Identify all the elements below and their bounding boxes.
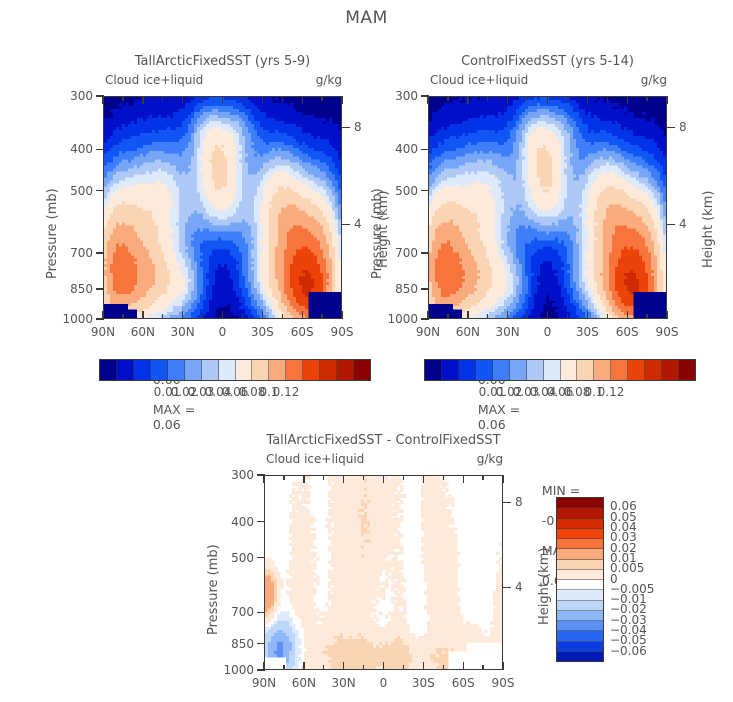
- panel-title-difference: TallArcticFixedSST - ControlFixedSST: [264, 433, 503, 448]
- colorbar-labels-1: 0.010.020.030.040.060.080.10.12: [424, 385, 696, 401]
- ytick-1: [257, 521, 265, 522]
- xtick-label-1: 60N: [131, 325, 155, 339]
- rtick-label-0: 8: [515, 495, 523, 509]
- xtick-2-0: [343, 475, 344, 483]
- colorbar-swatch-3: [151, 360, 168, 380]
- ytick-label-3: 700: [55, 246, 93, 260]
- colorbar-diff-swatch-7: [557, 570, 603, 580]
- figure-canvas: MAM TallArcticFixedSST (yrs 5-9) Cloud i…: [0, 0, 733, 702]
- xtick-minor: [122, 314, 123, 319]
- panel-control: ControlFixedSST (yrs 5-14) Cloud ice+liq…: [428, 96, 667, 319]
- plot-area-difference: [264, 475, 503, 670]
- contour-plot-control: [429, 97, 666, 318]
- xtick-5-1: [463, 662, 464, 670]
- colorbar-swatches-diff: [556, 497, 604, 662]
- xtick-4-1: [423, 662, 424, 670]
- xtick-2-1: [343, 662, 344, 670]
- xtick-1-1: [142, 311, 143, 319]
- xtick-minor: [527, 314, 528, 319]
- ytick-3: [96, 252, 104, 253]
- xtick-0-1: [102, 311, 103, 319]
- xtick-0-1: [263, 662, 264, 670]
- ytick-label-2: 500: [216, 551, 254, 565]
- ytick-2: [96, 190, 104, 191]
- xtick-label-3: 0: [219, 325, 227, 339]
- colorbar-diff-swatch-15: [557, 652, 603, 661]
- plot-area-tallarctic: [103, 96, 342, 319]
- xtick-minor: [282, 96, 283, 101]
- xtick-2-0: [182, 96, 183, 104]
- colorbar-diff-swatch-1: [557, 508, 603, 518]
- ytick-label-5: 1000: [380, 312, 418, 326]
- ytick-4: [421, 288, 429, 289]
- colorbar-swatch-7: [544, 360, 561, 380]
- colorbar-swatches-0: [99, 359, 371, 381]
- xtick-5-1: [627, 311, 628, 319]
- colorbar-diff-swatch-11: [557, 611, 603, 621]
- ytick-label-1: 400: [55, 142, 93, 156]
- xtick-minor: [363, 475, 364, 480]
- xtick-minor: [283, 665, 284, 670]
- colorbar-swatch-15: [679, 360, 695, 380]
- xtick-minor: [162, 96, 163, 101]
- ytick-label-3: 700: [216, 605, 254, 619]
- contour-plot-difference: [265, 476, 502, 669]
- rtick-1: [503, 587, 511, 588]
- colorbar-swatches-1: [424, 359, 696, 381]
- ytick-1: [421, 149, 429, 150]
- xtick-4-0: [423, 475, 424, 483]
- xtick-1-0: [142, 96, 143, 104]
- xtick-3-1: [547, 311, 548, 319]
- xtick-1-0: [467, 96, 468, 104]
- panel-title-tallarctic: TallArcticFixedSST (yrs 5-9): [103, 54, 342, 69]
- colorbar-swatch-4: [493, 360, 510, 380]
- xtick-minor: [202, 314, 203, 319]
- colorbar-vertical-difference: 0.060.050.040.030.020.010.0050−0.005−0.0…: [556, 497, 604, 662]
- rtick-0: [342, 127, 350, 128]
- colorbar-diff-swatch-0: [557, 498, 603, 508]
- xtick-3-0: [222, 96, 223, 104]
- colorbar-diff-swatch-10: [557, 601, 603, 611]
- xtick-minor: [567, 314, 568, 319]
- xtick-label-2: 30N: [496, 325, 520, 339]
- ytick-3: [421, 252, 429, 253]
- xtick-4-0: [262, 96, 263, 104]
- rtick-label-1: 4: [679, 217, 687, 231]
- max-value-0: 0.06: [153, 417, 181, 432]
- ytick-label-0: 300: [380, 89, 418, 103]
- ytick-label-4: 850: [55, 282, 93, 296]
- xtick-label-1: 60N: [292, 676, 316, 690]
- ytick-label-5: 1000: [55, 312, 93, 326]
- max-label-0: MAX =: [153, 402, 195, 417]
- xtick-label-0: 90N: [91, 325, 115, 339]
- xtick-6-1: [666, 311, 667, 319]
- xtick-1-1: [303, 662, 304, 670]
- ytick-4: [96, 288, 104, 289]
- xtick-minor: [443, 475, 444, 480]
- xtick-label-6: 90S: [331, 325, 354, 339]
- yaxis-title-1: Pressure (mb): [370, 188, 385, 279]
- ytick-label-2: 500: [380, 184, 418, 198]
- colorbar-swatch-13: [320, 360, 337, 380]
- xtick-minor: [321, 96, 322, 101]
- xtick-label-3: 0: [544, 325, 552, 339]
- xtick-0-1: [427, 311, 428, 319]
- figure-suptitle: MAM: [0, 8, 733, 28]
- colorbar-diff-swatch-3: [557, 529, 603, 539]
- xtick-4-0: [587, 96, 588, 104]
- xtick-label-6: 90S: [492, 676, 515, 690]
- panel-difference: TallArcticFixedSST - ControlFixedSST Clo…: [264, 475, 503, 670]
- xtick-label-5: 60S: [452, 676, 475, 690]
- colorbar-swatch-14: [662, 360, 679, 380]
- colorbar-diff-swatch-2: [557, 519, 603, 529]
- xtick-5-0: [463, 475, 464, 483]
- panel-field-label-0: Cloud ice+liquid: [105, 73, 203, 87]
- colorbar-swatch-5: [185, 360, 202, 380]
- colorbar-diff-swatch-6: [557, 560, 603, 570]
- rtick-1: [667, 224, 675, 225]
- ytick-label-5: 1000: [216, 663, 254, 677]
- xtick-label-4: 30S: [576, 325, 599, 339]
- rtick-label-0: 8: [354, 120, 362, 134]
- xtick-3-0: [547, 96, 548, 104]
- max-value-1: 0.06: [478, 417, 506, 432]
- colorbar-diff-swatch-13: [557, 631, 603, 641]
- xtick-minor: [443, 665, 444, 670]
- xtick-0-0: [102, 96, 103, 104]
- xtick-minor: [607, 96, 608, 101]
- xtick-3-1: [383, 662, 384, 670]
- colorbar-diff-swatch-4: [557, 539, 603, 549]
- min-label-2: MIN =: [542, 483, 580, 498]
- colorbar-tick-label-7: 0.12: [598, 385, 625, 399]
- xtick-minor: [482, 475, 483, 480]
- colorbar-diff-swatch-9: [557, 590, 603, 600]
- xtick-minor: [567, 96, 568, 101]
- colorbar-swatch-12: [303, 360, 320, 380]
- xtick-minor: [447, 96, 448, 101]
- colorbar-swatch-10: [594, 360, 611, 380]
- xtick-label-0: 90N: [416, 325, 440, 339]
- xtick-label-1: 60N: [456, 325, 480, 339]
- xtick-label-3: 0: [380, 676, 388, 690]
- xtick-minor: [202, 96, 203, 101]
- max-label-1: MAX =: [478, 402, 520, 417]
- yaxis-title-0: Pressure (mb): [45, 188, 60, 279]
- xtick-label-0: 90N: [252, 676, 276, 690]
- xtick-minor: [403, 475, 404, 480]
- rtick-label-1: 4: [515, 580, 523, 594]
- panel-units-label-1: g/kg: [641, 73, 667, 87]
- ytick-label-1: 400: [380, 142, 418, 156]
- xtick-minor: [283, 475, 284, 480]
- xtick-label-4: 30S: [412, 676, 435, 690]
- xtick-6-0: [341, 96, 342, 104]
- colorbar-swatch-1: [117, 360, 134, 380]
- colorbar-diff-swatch-8: [557, 580, 603, 590]
- colorbar-swatch-8: [236, 360, 253, 380]
- colorbar-diff-swatch-12: [557, 621, 603, 631]
- ytick-4: [257, 643, 265, 644]
- xtick-1-1: [467, 311, 468, 319]
- colorbar-diff-swatch-14: [557, 642, 603, 652]
- ytick-label-2: 500: [55, 184, 93, 198]
- colorbar-diff-swatch-5: [557, 549, 603, 559]
- ytick-label-3: 700: [380, 246, 418, 260]
- colorbar-swatch-13: [645, 360, 662, 380]
- xtick-minor: [242, 96, 243, 101]
- ytick-label-0: 300: [55, 89, 93, 103]
- xtick-minor: [646, 96, 647, 101]
- xtick-6-0: [666, 96, 667, 104]
- xtick-label-6: 90S: [656, 325, 679, 339]
- rtick-label-0: 8: [679, 120, 687, 134]
- panel-units-label-0: g/kg: [316, 73, 342, 87]
- panel-title-control: ControlFixedSST (yrs 5-14): [428, 54, 667, 69]
- xtick-4-1: [262, 311, 263, 319]
- ytick-label-1: 400: [216, 515, 254, 529]
- colorbar-swatch-14: [337, 360, 354, 380]
- contour-plot-tallarctic: [104, 97, 341, 318]
- xtick-2-0: [507, 96, 508, 104]
- xtick-6-0: [502, 475, 503, 483]
- xtick-minor: [122, 96, 123, 101]
- panel-field-label-2: Cloud ice+liquid: [266, 452, 364, 466]
- colorbar-swatch-6: [202, 360, 219, 380]
- xtick-label-5: 60S: [616, 325, 639, 339]
- colorbar-swatch-1: [442, 360, 459, 380]
- ytick-label-0: 300: [216, 468, 254, 482]
- xtick-minor: [403, 665, 404, 670]
- xtick-5-1: [302, 311, 303, 319]
- xtick-5-0: [302, 96, 303, 104]
- xtick-0-0: [427, 96, 428, 104]
- xtick-minor: [323, 665, 324, 670]
- xtick-minor: [607, 314, 608, 319]
- panel-units-label-2: g/kg: [477, 452, 503, 466]
- xtick-minor: [282, 314, 283, 319]
- colorbar-swatch-2: [134, 360, 151, 380]
- rtick-0: [503, 502, 511, 503]
- xtick-minor: [487, 314, 488, 319]
- colorbar-swatch-0: [100, 360, 117, 380]
- colorbar-swatch-9: [577, 360, 594, 380]
- ytick-1: [96, 149, 104, 150]
- xtick-6-1: [502, 662, 503, 670]
- xtick-6-1: [341, 311, 342, 319]
- colorbar-swatch-4: [168, 360, 185, 380]
- xtick-4-1: [587, 311, 588, 319]
- xtick-3-1: [222, 311, 223, 319]
- xtick-label-5: 60S: [291, 325, 314, 339]
- xtick-label-2: 30N: [171, 325, 195, 339]
- colorbar-diff-tick-label-14: −0.06: [610, 644, 647, 658]
- xtick-minor: [242, 314, 243, 319]
- xtick-minor: [646, 314, 647, 319]
- ytick-label-4: 850: [216, 637, 254, 651]
- colorbar-horizontal-0: 0.010.020.030.040.060.080.10.12: [99, 359, 371, 401]
- xtick-minor: [162, 314, 163, 319]
- xtick-2-1: [182, 311, 183, 319]
- xtick-minor: [321, 314, 322, 319]
- y2axis-title-1: Height (km): [701, 191, 716, 268]
- xtick-2-1: [507, 311, 508, 319]
- colorbar-swatch-8: [561, 360, 578, 380]
- colorbar-horizontal-1: 0.010.020.030.040.060.080.10.12: [424, 359, 696, 401]
- colorbar-swatch-11: [286, 360, 303, 380]
- xtick-minor: [487, 96, 488, 101]
- colorbar-swatch-11: [611, 360, 628, 380]
- xtick-minor: [527, 96, 528, 101]
- colorbar-swatch-15: [354, 360, 370, 380]
- xtick-minor: [323, 475, 324, 480]
- colorbar-swatch-10: [269, 360, 286, 380]
- xtick-0-0: [263, 475, 264, 483]
- ytick-label-4: 850: [380, 282, 418, 296]
- ytick-2: [421, 190, 429, 191]
- xtick-minor: [482, 665, 483, 670]
- panel-tallarctic: TallArcticFixedSST (yrs 5-9) Cloud ice+l…: [103, 96, 342, 319]
- xtick-5-0: [627, 96, 628, 104]
- colorbar-swatch-3: [476, 360, 493, 380]
- colorbar-swatch-0: [425, 360, 442, 380]
- xtick-minor: [447, 314, 448, 319]
- colorbar-labels-0: 0.010.020.030.040.060.080.10.12: [99, 385, 371, 401]
- panel-field-label-1: Cloud ice+liquid: [430, 73, 528, 87]
- rtick-label-1: 4: [354, 217, 362, 231]
- xtick-minor: [363, 665, 364, 670]
- rtick-1: [342, 224, 350, 225]
- xtick-label-2: 30N: [332, 676, 356, 690]
- colorbar-swatch-2: [459, 360, 476, 380]
- plot-area-control: [428, 96, 667, 319]
- colorbar-tick-label-7: 0.12: [273, 385, 300, 399]
- xtick-1-0: [303, 475, 304, 483]
- colorbar-swatch-6: [527, 360, 544, 380]
- rtick-0: [667, 127, 675, 128]
- colorbar-swatch-12: [628, 360, 645, 380]
- ytick-2: [257, 557, 265, 558]
- colorbar-swatch-7: [219, 360, 236, 380]
- xtick-3-0: [383, 475, 384, 483]
- ytick-3: [257, 612, 265, 613]
- colorbar-swatch-5: [510, 360, 527, 380]
- colorbar-swatch-9: [252, 360, 269, 380]
- xtick-label-4: 30S: [251, 325, 274, 339]
